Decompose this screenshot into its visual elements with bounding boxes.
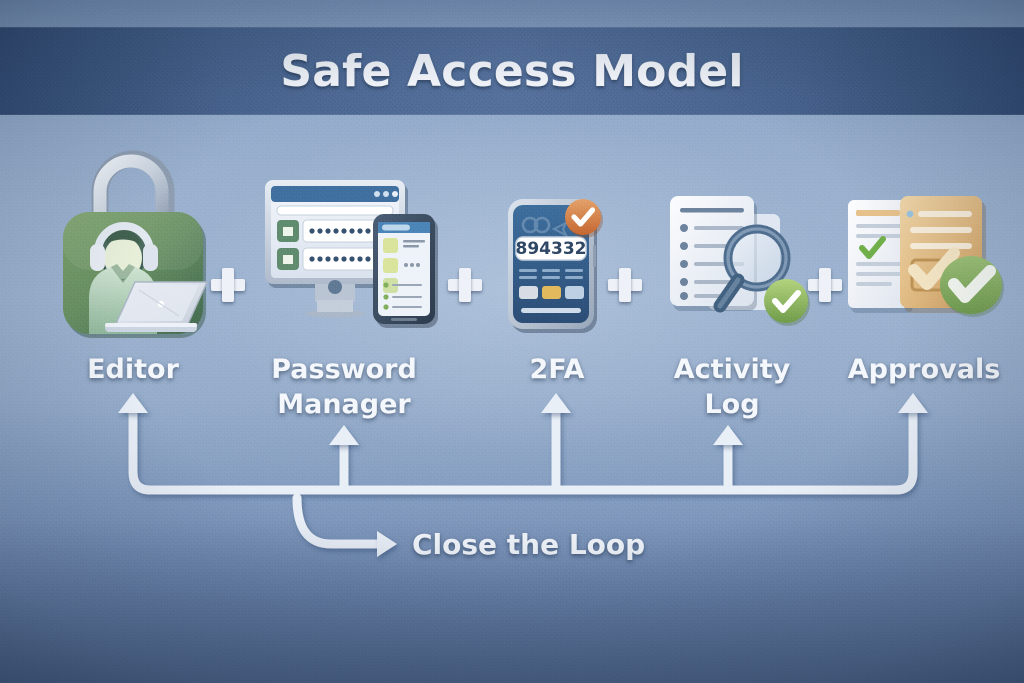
label-editor-line-1: Editor [87, 354, 179, 385]
label-password-manager: Password Manager [252, 353, 436, 422]
label-activity-log-line-2: Log [650, 388, 814, 423]
label-editor: Editor [53, 353, 213, 388]
infographic-canvas: Safe Access Model [0, 0, 1024, 683]
label-2fa-line-1: 2FA [529, 354, 584, 385]
arrowhead-activity-log [713, 425, 743, 445]
arrowhead-approvals [898, 393, 928, 413]
arrowhead-2fa [541, 393, 571, 413]
branch-approvals [896, 408, 913, 490]
label-password-manager-line-2: Manager [252, 388, 436, 423]
branch-editor [133, 408, 150, 490]
arrowhead-editor [118, 393, 148, 413]
label-activity-log: Activity Log [650, 353, 814, 422]
label-password-manager-line-1: Password [252, 353, 436, 388]
branch-close-the-loop [297, 498, 380, 544]
arrowhead-password-manager [329, 425, 359, 445]
close-the-loop-label: Close the Loop [412, 528, 645, 561]
label-activity-log-line-1: Activity [650, 353, 814, 388]
label-approvals: Approvals [833, 353, 1015, 388]
label-approvals-line-1: Approvals [848, 354, 1001, 385]
label-2fa: 2FA [477, 353, 637, 388]
arrowhead-close-the-loop [377, 531, 397, 557]
flow-arrows [0, 0, 1024, 683]
